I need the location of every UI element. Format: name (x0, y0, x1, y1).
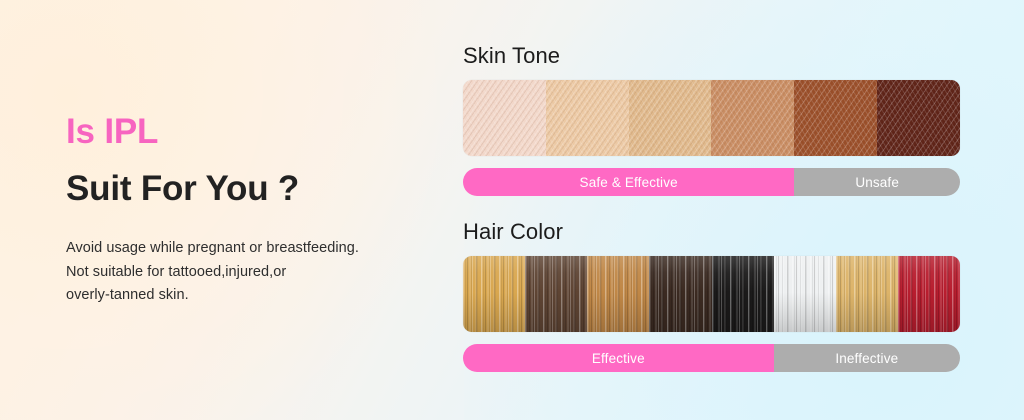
skin-tone-title: Skin Tone (463, 44, 960, 68)
skin-tone-swatch-strip (463, 80, 960, 156)
skin-swatch-deep-brown (877, 80, 960, 156)
hair-color-verdict-bar: Effective Ineffective (463, 344, 960, 372)
hair-swatch-white-silver (774, 256, 836, 332)
hair-swatch-dark-brown (649, 256, 711, 332)
ipl-suitability-banner: Is IPL Suit For You ? Avoid usage while … (0, 0, 1024, 420)
skin-swatch-brown (794, 80, 877, 156)
hair-swatch-light-blonde (836, 256, 898, 332)
hair-color-section: Hair Color Effective Ineffective (463, 220, 960, 372)
skin-swatch-light-medium (629, 80, 712, 156)
hair-swatch-ash-brown (525, 256, 587, 332)
disclaimer-line-2: Not suitable for tattooed,injured,or (66, 261, 438, 284)
skin-swatch-very-fair (463, 80, 546, 156)
hair-swatch-red (898, 256, 960, 332)
skin-tone-verdict-bar: Safe & Effective Unsafe (463, 168, 960, 196)
headline-line-1: Is IPL (66, 112, 438, 151)
disclaimer-line-1: Avoid usage while pregnant or breastfeed… (66, 237, 438, 260)
hair-swatch-copper-brown (587, 256, 649, 332)
hair-swatch-golden-blonde (463, 256, 525, 332)
skin-verdict-safe: Safe & Effective (463, 168, 794, 196)
hair-verdict-ineffective: Ineffective (774, 344, 960, 372)
skin-tone-section: Skin Tone Safe & Effective Unsafe (463, 44, 960, 196)
disclaimer-text: Avoid usage while pregnant or breastfeed… (66, 237, 438, 307)
hair-color-swatch-strip (463, 256, 960, 332)
hair-swatch-black (712, 256, 774, 332)
hair-color-title: Hair Color (463, 220, 960, 244)
headline-column: Is IPL Suit For You ? Avoid usage while … (66, 112, 438, 308)
skin-swatch-fair (546, 80, 629, 156)
suitability-charts: Skin Tone Safe & Effective Unsafe Hair C… (463, 44, 960, 372)
disclaimer-line-3: overly-tanned skin. (66, 284, 438, 307)
headline-line-2: Suit For You ? (66, 169, 438, 208)
skin-swatch-medium-tan (711, 80, 794, 156)
hair-verdict-effective: Effective (463, 344, 774, 372)
skin-verdict-unsafe: Unsafe (794, 168, 960, 196)
